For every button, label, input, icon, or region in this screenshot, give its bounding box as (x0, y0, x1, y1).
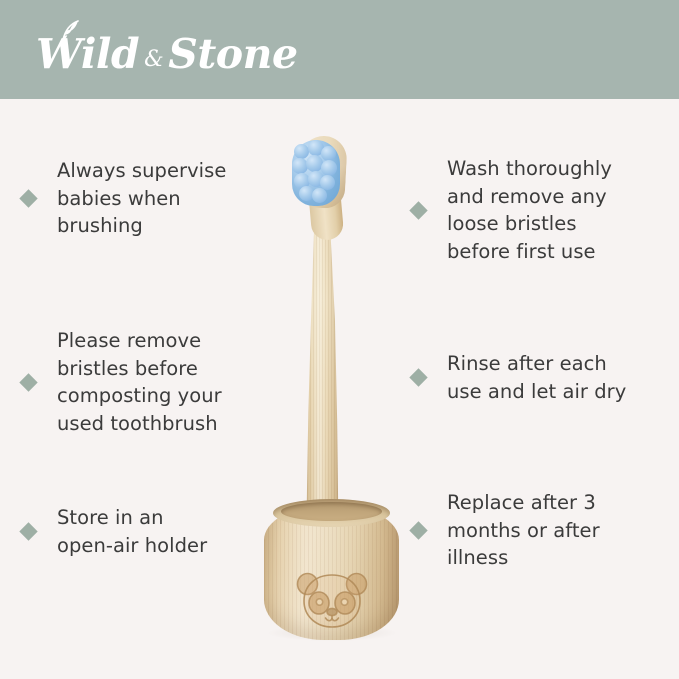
toothbrush-handle (304, 208, 340, 538)
toothbrush-holder (264, 495, 399, 640)
tip-text: Wash thoroughly and remove any loose bri… (447, 155, 612, 266)
tip-text: Replace after 3 months or after illness (447, 489, 600, 572)
tip-text: Please remove bristles before composting… (57, 327, 222, 438)
brand-word-wild: Wild (36, 34, 139, 75)
bristle-tuft (294, 144, 309, 159)
bristle-tuft (321, 146, 336, 161)
bamboo-toothbrush (252, 130, 427, 530)
diamond-bullet-icon (19, 189, 37, 207)
tip-item: Replace after 3 months or after illness (412, 489, 679, 572)
infographic-page: Wild & Stone Always supervise babies whe… (0, 0, 679, 679)
panda-face-engraving (292, 567, 372, 633)
bristle-tuft (321, 160, 337, 176)
tip-text: Always supervise babies when brushing (57, 157, 226, 240)
holder-rim-opening (281, 502, 382, 521)
brand-header-band: Wild & Stone (0, 0, 679, 99)
toothbrush-bristles (290, 138, 342, 210)
brand-wordmark: Wild & Stone (36, 34, 298, 75)
brand-ampersand: & (139, 49, 168, 71)
bristle-tuft (312, 188, 327, 203)
tip-text: Store in an open-air holder (57, 504, 207, 559)
tip-text: Rinse after each use and let air dry (447, 350, 626, 405)
tip-item: Rinse after each use and let air dry (412, 350, 679, 405)
diamond-bullet-icon (19, 373, 37, 391)
diamond-bullet-icon (19, 522, 37, 540)
tip-item: Wash thoroughly and remove any loose bri… (412, 155, 679, 266)
bamboo-grain-texture (304, 208, 340, 538)
product-image (252, 130, 427, 655)
brand-word-stone: Stone (168, 34, 297, 75)
brand-logo: Wild & Stone (36, 26, 298, 82)
